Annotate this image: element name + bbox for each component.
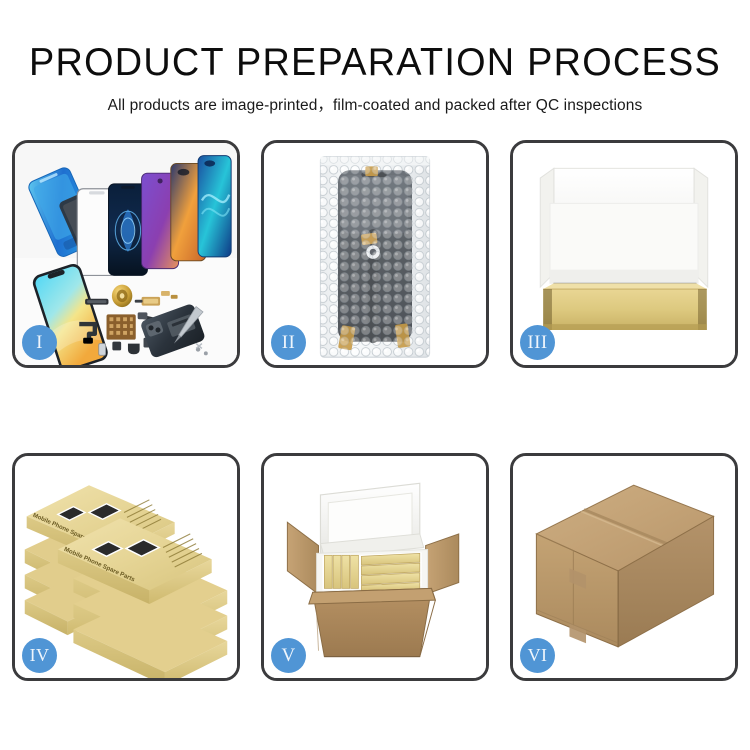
panel-step-1: I	[12, 140, 240, 368]
yellow-boxes-right	[361, 553, 419, 590]
header: PRODUCT PREPARATION PROCESS All products…	[0, 0, 750, 117]
step-badge-4: IV	[22, 638, 57, 673]
page-title: PRODUCT PREPARATION PROCESS	[11, 40, 739, 86]
foam-lid	[320, 483, 423, 557]
product-preparation-infographic: PRODUCT PREPARATION PROCESS All products…	[0, 0, 750, 750]
process-row-1: I	[12, 140, 738, 368]
step-badge-3: III	[520, 325, 555, 360]
ic-chip	[107, 314, 136, 339]
page-subtitle: All products are image-printed，film-coat…	[0, 95, 750, 117]
panel-step-4: Mobile Phone Spare Parts	[12, 453, 240, 681]
step-badge-6: VI	[520, 638, 555, 673]
panel-step-3: III	[510, 140, 738, 368]
panel-step-6: VI	[510, 453, 738, 681]
process-row-2: Mobile Phone Spare Parts	[12, 453, 738, 681]
bubble-sheen	[320, 157, 429, 358]
step-badge-5: V	[271, 638, 306, 673]
step-badge-2: II	[271, 325, 306, 360]
step-badge-1: I	[22, 325, 57, 360]
panel-step-5: V	[261, 453, 489, 681]
panel-step-2: II	[261, 140, 489, 368]
process-steps-grid: I	[12, 140, 738, 681]
inner-box	[540, 168, 707, 330]
